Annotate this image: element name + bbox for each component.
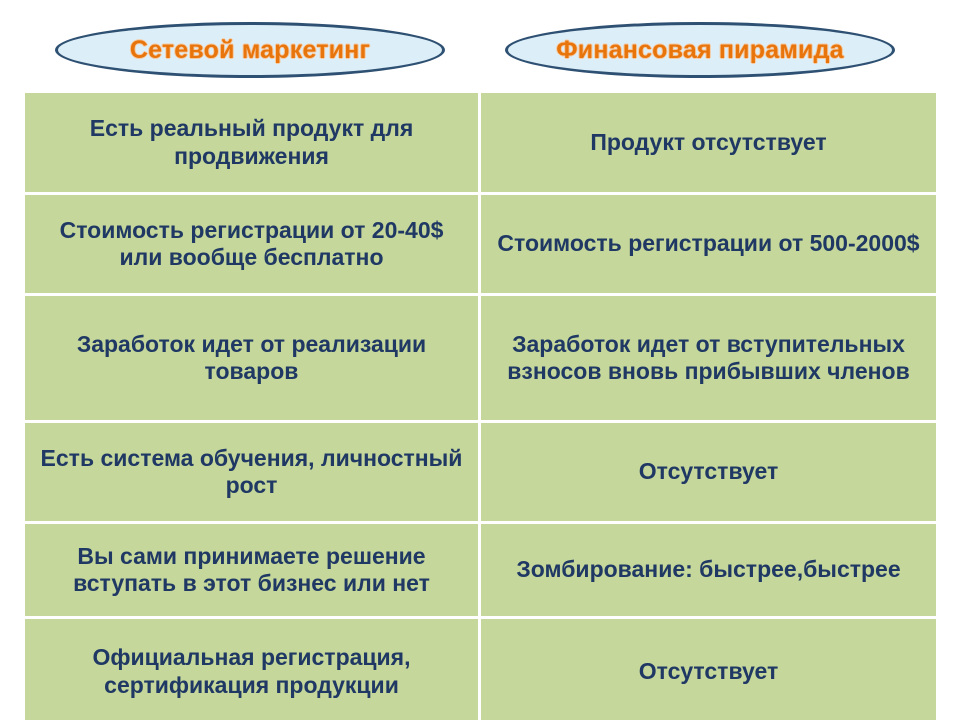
cell-financial-pyramid: Стоимость регистрации от 500-2000$ <box>481 195 936 293</box>
cell-text: Есть реальный продукт для продвижения <box>39 115 464 169</box>
comparison-slide: Сетевой маркетинг Финансовая пирамида Ес… <box>0 0 960 720</box>
cell-financial-pyramid: Отсутствует <box>481 619 936 720</box>
table-row: Вы сами принимаете решение вступать в эт… <box>25 524 936 616</box>
cell-network-marketing: Есть реальный продукт для продвижения <box>25 93 478 192</box>
cell-network-marketing: Стоимость регистрации от 20-40$ или вооб… <box>25 195 478 293</box>
header-ellipse-network-marketing[interactable]: Сетевой маркетинг <box>55 22 445 78</box>
comparison-table-body: Есть реальный продукт для продвижения Пр… <box>25 93 936 720</box>
cell-network-marketing: Есть система обучения, личностный рост <box>25 423 478 521</box>
header-label-network-marketing: Сетевой маркетинг <box>130 38 370 63</box>
cell-text: Отсутствует <box>495 458 922 485</box>
cell-text: Заработок идет от реализации товаров <box>39 331 464 385</box>
header-label-financial-pyramid: Финансовая пирамида <box>556 38 844 63</box>
header-ellipse-financial-pyramid[interactable]: Финансовая пирамида <box>505 22 895 78</box>
cell-text: Продукт отсутствует <box>495 129 922 156</box>
table-row: Есть система обучения, личностный рост О… <box>25 423 936 521</box>
cell-financial-pyramid: Заработок идет от вступительных взносов … <box>481 296 936 420</box>
cell-financial-pyramid: Отсутствует <box>481 423 936 521</box>
cell-text: Отсутствует <box>495 658 922 685</box>
cell-text: Вы сами принимаете решение вступать в эт… <box>39 543 464 597</box>
cell-text: Официальная регистрация, сертификация пр… <box>39 644 464 698</box>
cell-network-marketing: Заработок идет от реализации товаров <box>25 296 478 420</box>
table-row: Стоимость регистрации от 20-40$ или вооб… <box>25 195 936 293</box>
cell-network-marketing: Вы сами принимаете решение вступать в эт… <box>25 524 478 616</box>
comparison-table: Есть реальный продукт для продвижения Пр… <box>22 90 939 720</box>
cell-text: Есть система обучения, личностный рост <box>39 445 464 499</box>
table-row: Заработок идет от реализации товаров Зар… <box>25 296 936 420</box>
cell-text: Стоимость регистрации от 20-40$ или вооб… <box>39 217 464 271</box>
header-ellipse-row: Сетевой маркетинг Финансовая пирамида <box>0 22 960 90</box>
cell-text: Зомбирование: быстрее,быстрее <box>495 556 922 583</box>
cell-network-marketing: Официальная регистрация, сертификация пр… <box>25 619 478 720</box>
table-row: Официальная регистрация, сертификация пр… <box>25 619 936 720</box>
cell-text: Стоимость регистрации от 500-2000$ <box>495 230 922 257</box>
cell-financial-pyramid: Продукт отсутствует <box>481 93 936 192</box>
cell-text: Заработок идет от вступительных взносов … <box>495 331 922 385</box>
cell-financial-pyramid: Зомбирование: быстрее,быстрее <box>481 524 936 616</box>
table-row: Есть реальный продукт для продвижения Пр… <box>25 93 936 192</box>
